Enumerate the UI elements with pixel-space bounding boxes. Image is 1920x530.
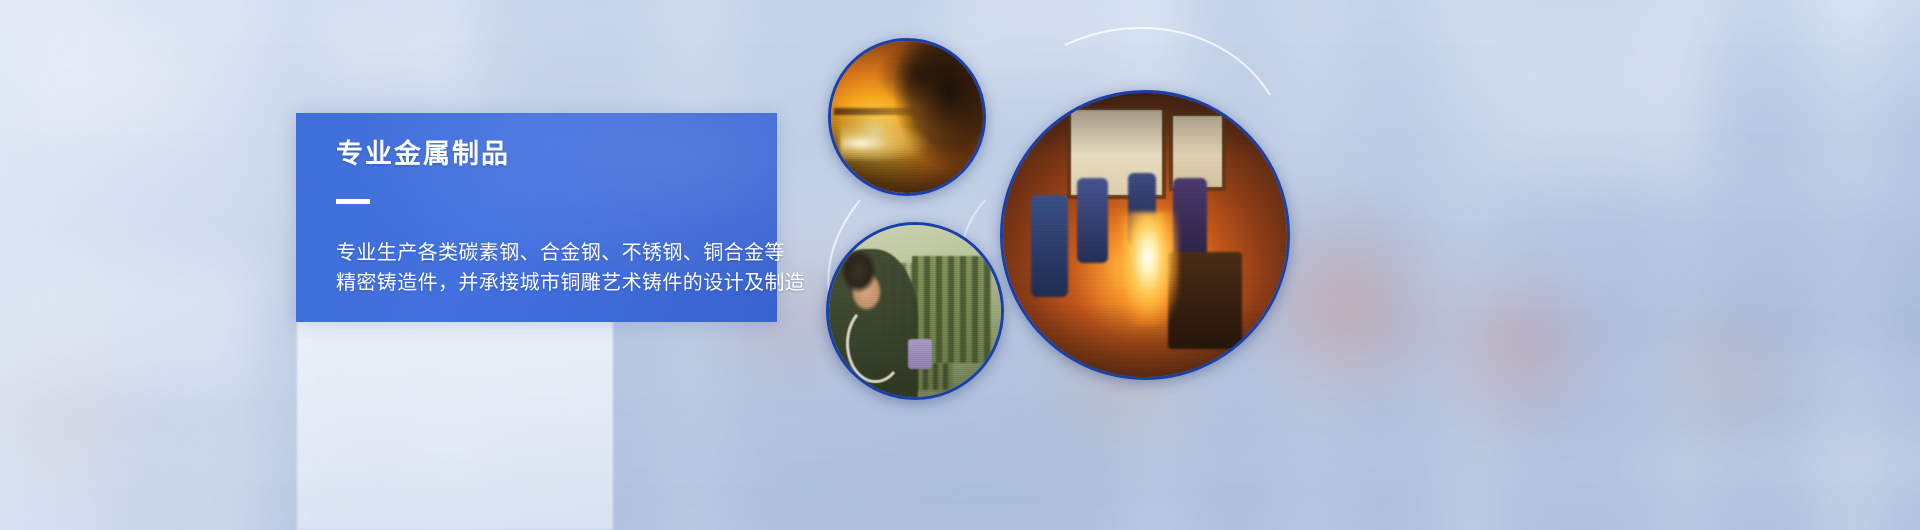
assembly-worker-photo [826,222,1004,400]
panel-body-line-1: 专业生产各类碳素钢、合金钢、不锈钢、铜合金等 [336,237,757,267]
background-light-slab [297,320,613,530]
welding-sparks-photo [828,38,986,196]
promo-text-panel: 专业金属制品 专业生产各类碳素钢、合金钢、不锈钢、铜合金等 精密铸造件，并承接城… [296,113,777,322]
foundry-pouring-photo [1000,90,1290,380]
title-divider [336,199,370,204]
panel-title: 专业金属制品 [336,140,757,170]
panel-body-line-2: 精密铸造件，并承接城市铜雕艺术铸件的设计及制造 [336,267,757,297]
hero-banner: 专业金属制品 专业生产各类碳素钢、合金钢、不锈钢、铜合金等 精密铸造件，并承接城… [0,0,1920,530]
